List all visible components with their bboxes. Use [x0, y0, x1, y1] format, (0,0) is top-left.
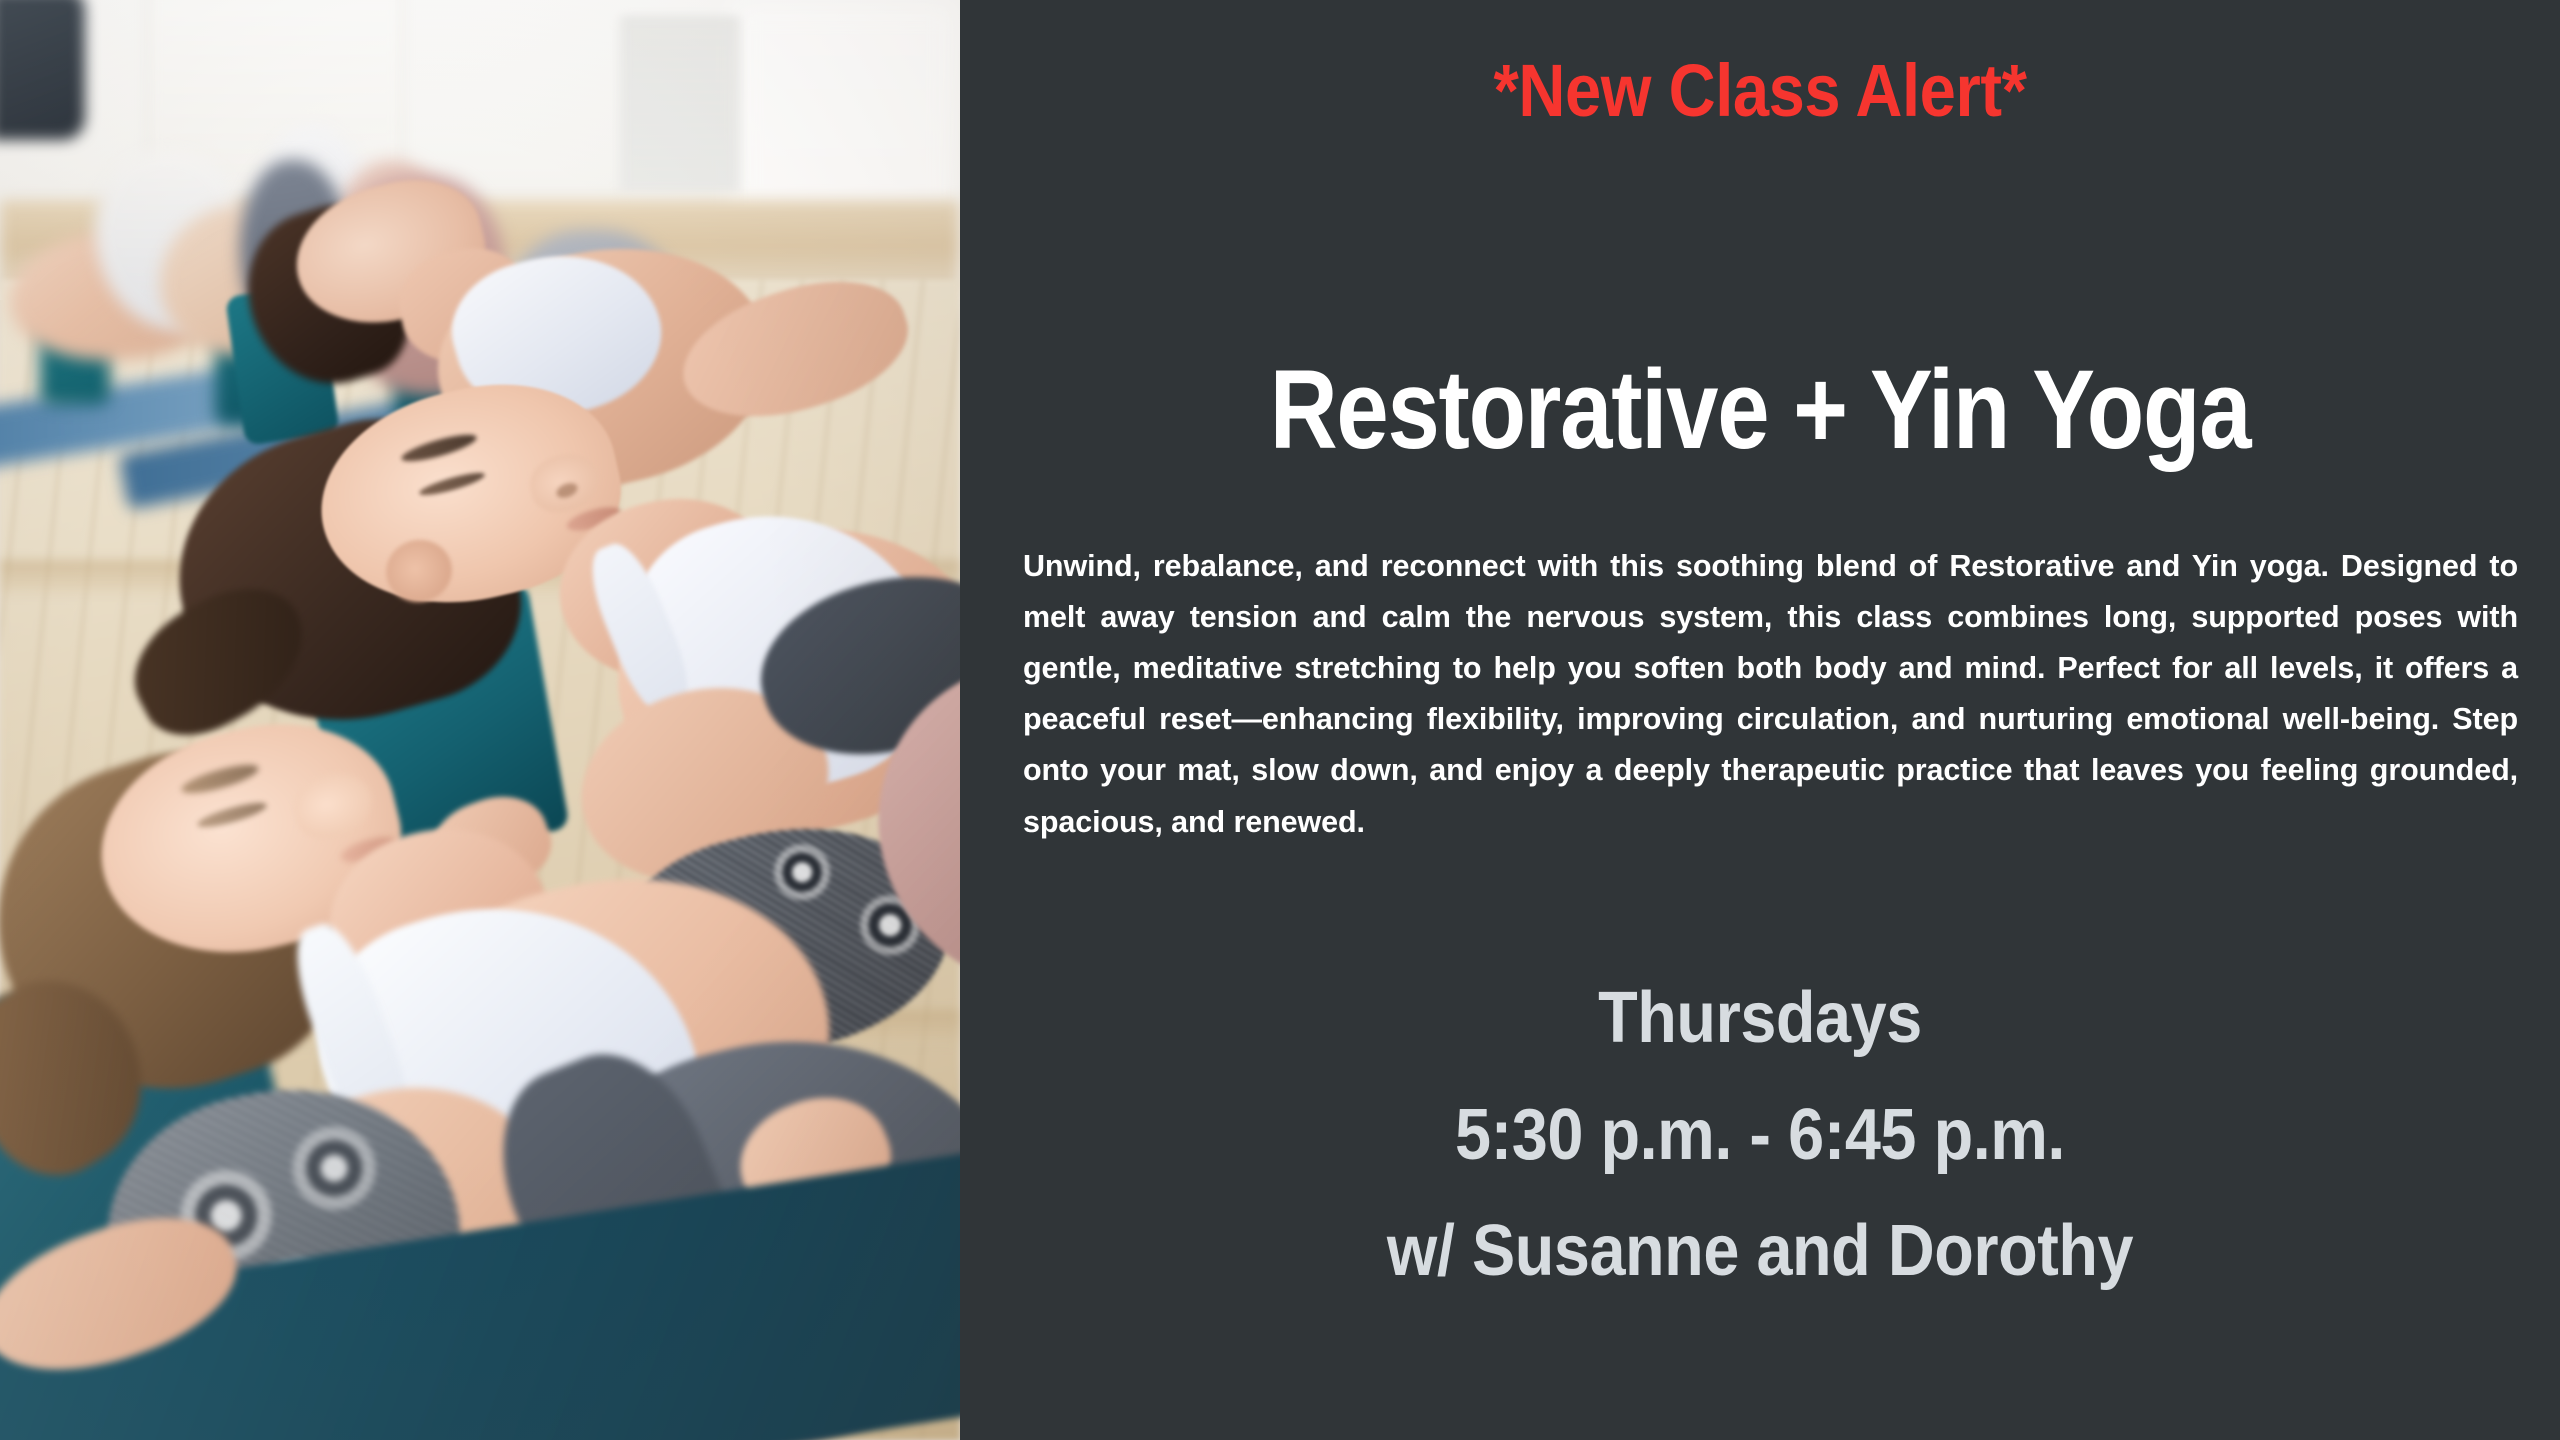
- class-announcement-poster: *New Class Alert* Restorative + Yin Yoga…: [0, 0, 2560, 1440]
- schedule-day: Thursdays: [1040, 960, 2480, 1077]
- class-description: Unwind, rebalance, and reconnect with th…: [1023, 541, 2518, 848]
- info-panel: *New Class Alert* Restorative + Yin Yoga…: [960, 0, 2560, 1440]
- new-class-alert-heading: *New Class Alert*: [1056, 48, 2464, 133]
- yoga-class-photo: [0, 0, 960, 1440]
- radiator: [620, 18, 740, 193]
- schedule-instructors: w/ Susanne and Dorothy: [1040, 1193, 2480, 1310]
- class-title: Restorative + Yin Yoga: [1088, 345, 2432, 474]
- schedule-time: 5:30 p.m. - 6:45 p.m.: [1040, 1077, 2480, 1194]
- schedule-block: Thursdays 5:30 p.m. - 6:45 p.m. w/ Susan…: [1040, 960, 2480, 1310]
- background-figure: [0, 0, 85, 140]
- photo-composition: [0, 0, 960, 1440]
